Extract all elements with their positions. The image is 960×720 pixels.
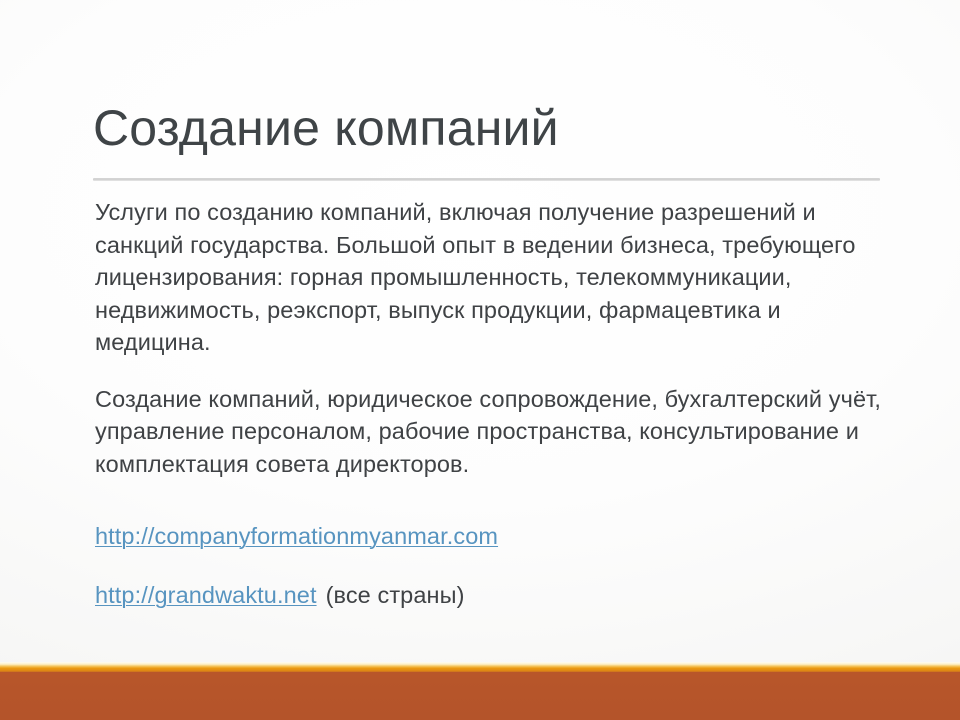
body-paragraph-2: Создание компаний, юридическое сопровожд… (95, 383, 895, 481)
links-block: http://companyformationmyanmar.com http:… (95, 520, 895, 611)
link-row-1: http://companyformationmyanmar.com (95, 520, 895, 552)
link-grandwaktu[interactable]: http://grandwaktu.net (95, 582, 317, 608)
title-divider (93, 178, 880, 181)
page-title: Создание компаний (93, 98, 881, 158)
bottom-accent-bar (0, 662, 960, 720)
presentation-slide: Создание компаний Услуги по созданию ком… (0, 0, 960, 720)
title-block: Создание компаний (93, 98, 881, 158)
link-row-2: http://grandwaktu.net(все страны) (95, 579, 895, 611)
body-content: Услуги по созданию компаний, включая пол… (95, 196, 895, 480)
bottom-bar-fill (0, 672, 960, 720)
bottom-bar-highlight-stripe (0, 662, 960, 672)
link-companyformationmyanmar[interactable]: http://companyformationmyanmar.com (95, 523, 498, 549)
link-note-all-countries: (все страны) (326, 582, 465, 608)
body-paragraph-1: Услуги по созданию компаний, включая пол… (95, 196, 895, 359)
